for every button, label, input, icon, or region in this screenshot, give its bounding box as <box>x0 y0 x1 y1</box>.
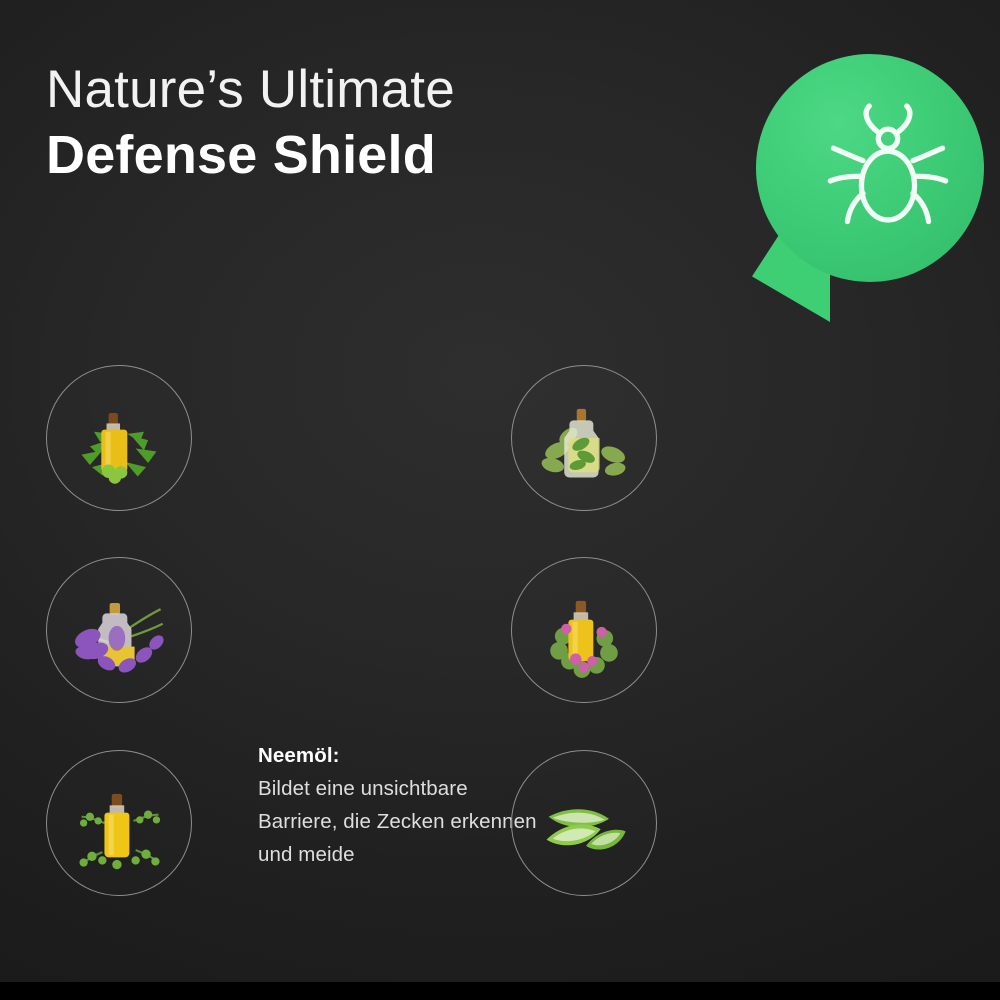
letterbox-bar <box>0 982 1000 1000</box>
ingredient-label: Neemöl: <box>258 739 548 772</box>
ingredient-badge <box>511 365 657 511</box>
infographic-poster: Nature’s Ultimate Defense Shield <box>0 0 1000 982</box>
geranium-oil-bottle-icon <box>532 578 636 682</box>
aloe-vera-leaf-icon <box>532 771 636 875</box>
ingredient-description: Bildet eine unsichtbare Barriere, die Ze… <box>258 777 537 866</box>
neem-oil-bottle-icon <box>67 386 171 490</box>
ingredient-badge <box>511 750 657 896</box>
speech-bubble-body <box>756 54 984 282</box>
ingredient-copy: Neemöl:Bildet eine unsichtbare Barriere,… <box>258 739 548 871</box>
page-title-line-2: Defense Shield <box>46 126 666 184</box>
page-title-line-1: Nature’s Ultimate <box>46 62 666 118</box>
ingredient-badge <box>46 750 192 896</box>
thyme-oil-bottle-icon <box>67 771 171 875</box>
tick-icon <box>810 92 966 248</box>
ingredient-badge <box>46 365 192 511</box>
eucalyptus-oil-bottle-icon <box>532 386 636 490</box>
lavender-oil-bottle-icon <box>67 578 171 682</box>
tick-speech-bubble <box>738 52 978 292</box>
ingredient-badge <box>511 557 657 703</box>
ingredient-badge <box>46 557 192 703</box>
header: Nature’s Ultimate Defense Shield <box>46 62 666 184</box>
